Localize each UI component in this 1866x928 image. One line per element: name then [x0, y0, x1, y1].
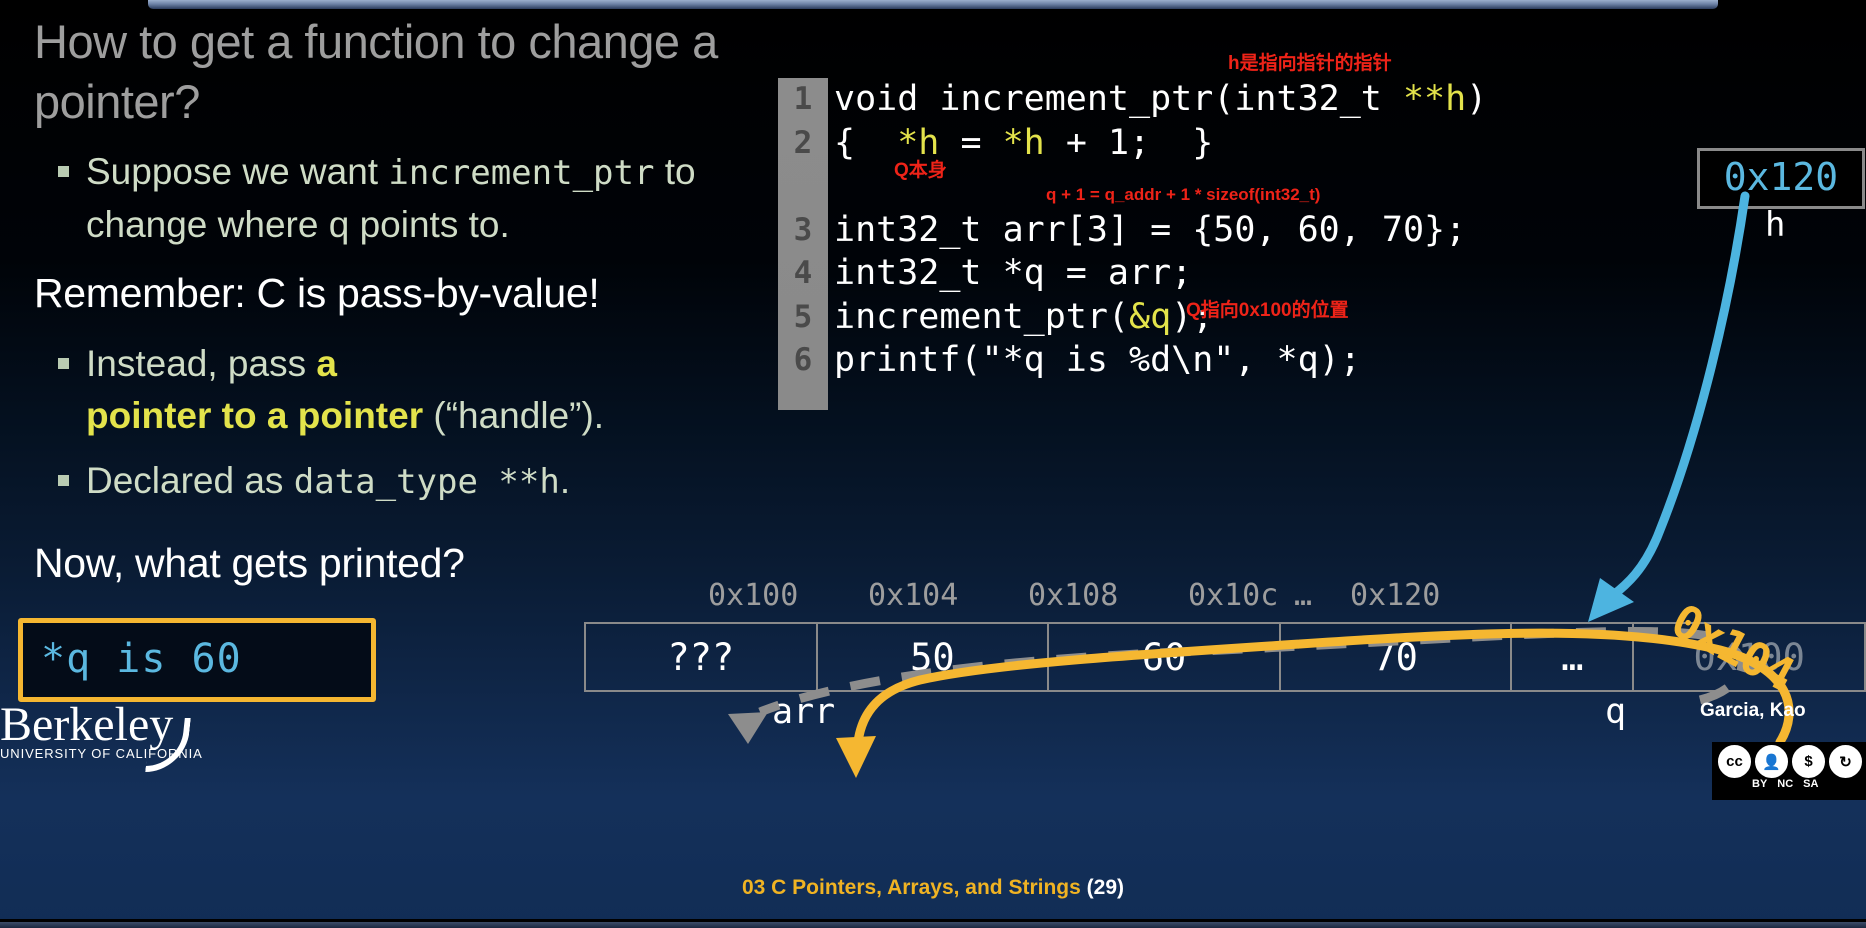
- author-credit: Garcia, Kao: [1700, 700, 1806, 722]
- grey-arrow-head-icon: [728, 712, 768, 744]
- highlight-a: a: [316, 343, 337, 384]
- window-bottom-chrome: [0, 919, 1866, 928]
- bullet-square-icon: [58, 475, 69, 486]
- bullet-suppose: Suppose we want increment_ptr to change …: [58, 146, 768, 251]
- address-label: 0x104: [868, 578, 958, 613]
- code-line-numbers: 1 2 3 4 5 6: [778, 78, 828, 410]
- footer-page-number: (29): [1087, 876, 1124, 899]
- now-what-gets-printed: Now, what gets printed?: [34, 540, 465, 587]
- annotation-q-points-to: Q指向0x100的位置: [1186, 295, 1349, 322]
- creative-commons-badge: cc 👤 $ ↻ BY NC SA: [1712, 742, 1866, 800]
- berkeley-logo: Berkeley UNIVERSITY OF CALIFORNIA: [0, 700, 203, 761]
- annotation-pointer-arithmetic: q + 1 = q_addr + 1 * sizeof(int32_t): [1046, 185, 1320, 205]
- gold-arrow-head-icon: [836, 736, 876, 778]
- address-label: …: [1294, 578, 1312, 613]
- bullet-declared-text: Declared as data_type **h.: [86, 455, 570, 508]
- cc-nc-icon: $: [1792, 745, 1825, 778]
- handle-label: h: [1765, 205, 1785, 245]
- q-label: q: [1605, 692, 1626, 732]
- cc-sa-icon: ↻: [1829, 745, 1862, 778]
- code-line-6: printf("*q is %d\n", *q);: [834, 340, 1361, 380]
- berkeley-swoosh-icon: [145, 718, 191, 772]
- code-line-5: increment_ptr(&q);: [834, 297, 1213, 337]
- blue-handle-pointer-path: [1612, 196, 1745, 596]
- bullet-square-icon: [58, 166, 69, 177]
- handle-value: 0x120: [1700, 151, 1862, 203]
- cc-icon-row: cc 👤 $ ↻: [1712, 742, 1866, 778]
- line-number: 3: [778, 209, 828, 253]
- code-text: void increment_ptr(int32_t **h) { *h = *…: [834, 78, 1487, 383]
- address-label: 0x108: [1028, 578, 1118, 613]
- handle-value-box: 0x120: [1697, 148, 1865, 209]
- annotation-q-itself: Q本身: [894, 155, 947, 182]
- slide-title: How to get a function to change a pointe…: [34, 12, 764, 132]
- line-number: 6: [778, 339, 828, 383]
- code-line-3: int32_t arr[3] = {50, 60, 70};: [834, 210, 1466, 250]
- cc-logo-icon: cc: [1718, 745, 1751, 778]
- arr-label: arr: [772, 692, 835, 732]
- bottom-chrome-bar: [0, 922, 1866, 928]
- inline-code-data-type-h: data_type **h: [294, 462, 560, 502]
- bullet-square-icon: [58, 358, 69, 369]
- cc-label-by: BY: [1752, 778, 1767, 790]
- memory-cell: 50: [818, 624, 1050, 690]
- code-line-blank: [834, 166, 855, 206]
- window-top-chrome: [0, 0, 1866, 10]
- memory-cell: …: [1512, 624, 1634, 690]
- memory-cell: 70: [1281, 624, 1513, 690]
- footer-lecture-title: 03 C Pointers, Arrays, and Strings: [742, 876, 1081, 899]
- line-number: 4: [778, 252, 828, 296]
- address-label: 0x10c: [1188, 578, 1278, 613]
- memory-address-row: 0x100 0x104 0x108 0x10c … 0x120: [584, 578, 1866, 618]
- answer-box: *q is 60: [18, 618, 376, 702]
- line-number: 5: [778, 296, 828, 340]
- code-line-1: void increment_ptr(int32_t **h): [834, 79, 1487, 119]
- memory-cell: ???: [586, 624, 818, 690]
- highlight-pointer-to-pointer: pointer to a pointer: [86, 395, 423, 436]
- address-label: 0x100: [708, 578, 798, 613]
- code-line-2: { *h = *h + 1; }: [834, 123, 1213, 163]
- cc-label-nc: NC: [1777, 778, 1793, 790]
- remember-heading: Remember: C is pass-by-value!: [34, 270, 599, 317]
- top-chrome-bar: [148, 0, 1718, 9]
- bullet-instead: Instead, pass apointer to a pointer (“ha…: [58, 338, 758, 442]
- cc-label-sa: SA: [1803, 778, 1818, 790]
- bullet-declared: Declared as data_type **h.: [58, 455, 758, 508]
- cc-label-row: BY NC SA: [1712, 778, 1866, 790]
- line-number: 1: [778, 78, 828, 122]
- memory-cell: 60: [1049, 624, 1281, 690]
- inline-code-increment-ptr: increment_ptr: [388, 153, 654, 193]
- address-label: 0x120: [1350, 578, 1440, 613]
- annotation-h-pointer-to-pointer: h是指向指针的指针: [1228, 48, 1392, 75]
- cc-by-icon: 👤: [1755, 745, 1788, 778]
- bullet-instead-text: Instead, pass apointer to a pointer (“ha…: [86, 338, 604, 442]
- answer-text: *q is 60: [41, 631, 242, 687]
- bullet-suppose-text: Suppose we want increment_ptr to change …: [86, 146, 768, 251]
- line-number: 2: [778, 122, 828, 166]
- slide-footer: 03 C Pointers, Arrays, and Strings (29): [0, 876, 1866, 900]
- slide-canvas: How to get a function to change a pointe…: [0, 0, 1866, 928]
- line-number: [778, 165, 828, 209]
- code-line-4: int32_t *q = arr;: [834, 253, 1192, 293]
